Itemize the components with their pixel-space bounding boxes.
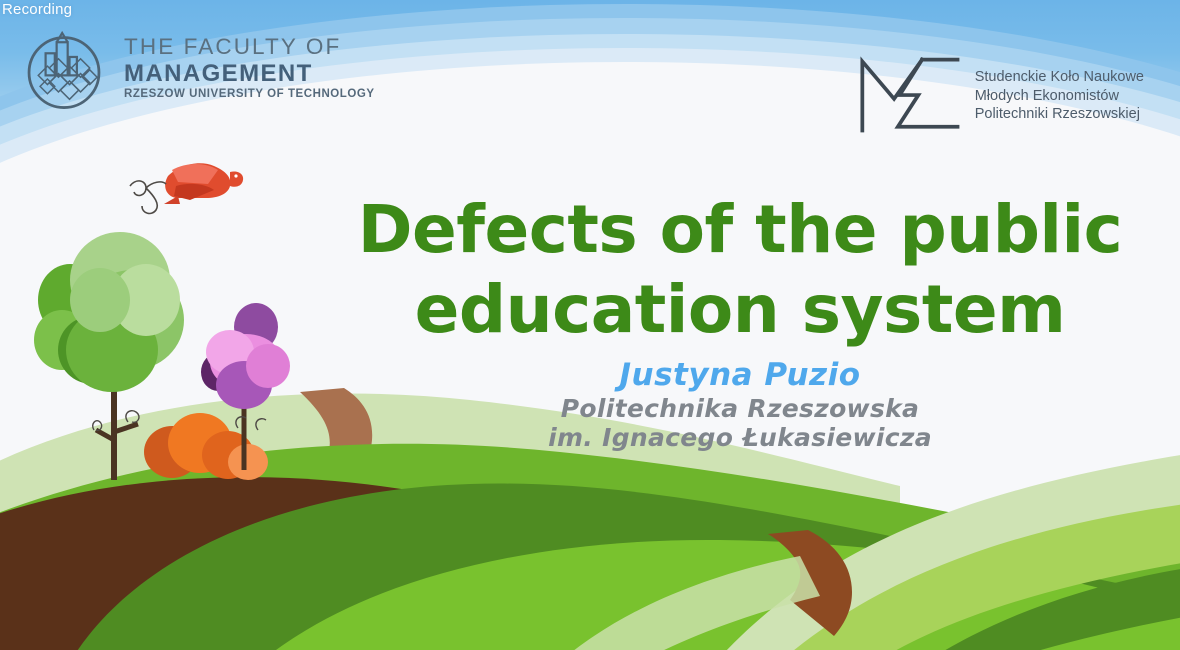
faculty-line-1: THE FACULTY OF <box>124 34 375 60</box>
hill-bright-green <box>240 540 1180 650</box>
page-title-line-2: education system <box>300 270 1180 350</box>
path-fragment-brown <box>768 530 852 636</box>
slide-title-block: Defects of the public education system J… <box>300 190 1180 452</box>
page-title-line-1: Defects of the public <box>300 190 1180 270</box>
rzeszow-faculty-emblem-icon <box>18 22 110 114</box>
recording-indicator-label: Recording <box>2 2 72 17</box>
purple-tree-icon <box>201 303 290 470</box>
faculty-logo-text: THE FACULTY OF MANAGEMENT RZESZOW UNIVER… <box>124 34 375 102</box>
student-club-text: Studenckie Koło Naukowe Młodych Ekonomis… <box>975 68 1144 124</box>
green-tree-icon <box>34 232 184 480</box>
faculty-logo: THE FACULTY OF MANAGEMENT RZESZOW UNIVER… <box>18 22 375 114</box>
decorative-swirl-icon <box>93 411 266 431</box>
presenter-name: Justyna Puzio <box>300 356 1180 394</box>
orange-bush-icon <box>144 413 268 480</box>
student-club-logo: Studenckie Koło Naukowe Młodych Ekonomis… <box>853 54 1144 138</box>
hill-soil-brown <box>0 477 600 650</box>
presenter-affiliation-line-2: im. Ignacego Łukasiewicza <box>300 423 1180 452</box>
mle-monogram-icon <box>853 54 965 138</box>
hill-accent-right <box>900 566 1180 650</box>
hill-deep-green <box>60 484 1180 650</box>
hill-mid-green <box>0 444 1180 650</box>
faculty-line-3: RZESZOW UNIVERSITY OF TECHNOLOGY <box>124 87 375 102</box>
faculty-line-2: MANAGEMENT <box>124 60 375 87</box>
hill-pale-left-low <box>540 556 820 650</box>
club-line-3: Politechniki Rzeszowskiej <box>975 105 1144 124</box>
club-line-1: Studenckie Koło Naukowe <box>975 68 1144 87</box>
presenter-affiliation-line-1: Politechnika Rzeszowska <box>300 394 1180 423</box>
flying-bird-icon <box>164 163 243 204</box>
hill-pale-right <box>700 452 1180 650</box>
club-line-2: Młodych Ekonomistów <box>975 87 1144 106</box>
hill-lime-right <box>760 502 1180 650</box>
decorative-swirl-icon <box>130 181 166 214</box>
presentation-slide: Recording <box>0 0 1180 650</box>
